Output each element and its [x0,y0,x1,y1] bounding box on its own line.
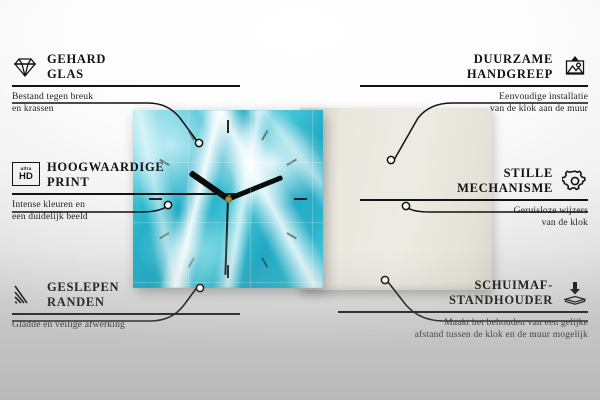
feature-geslepen-randen: GESLEPEN RANDEN Gladde en veilige afwerk… [12,280,240,331]
feature-duurzame-handgreep: DUURZAME HANDGREEP Eenvoudige installati… [360,52,588,115]
clock-tick [188,130,195,141]
feature-header: STILLE MECHANISME [360,166,588,196]
feature-title: SCHUIMAF- STANDHOUDER [449,278,553,308]
feature-divider [12,193,240,195]
feature-title: GESLEPEN RANDEN [47,280,119,310]
feature-header: GEHARD GLAS [12,52,240,82]
feature-header: ultra HD HOOGWAARDIGE PRINT [12,160,240,190]
press-down-pad-icon [562,280,588,306]
clock-tick [261,257,268,268]
feature-header: SCHUIMAF- STANDHOUDER [338,278,588,308]
feature-divider [360,85,588,87]
diamond-icon [12,54,38,80]
feature-hoogwaardige-print: ultra HD HOOGWAARDIGE PRINT Intense kleu… [12,160,240,223]
feature-subtitle: Maakt het behouden van een gelijke afsta… [338,317,588,341]
gear-icon [562,168,588,194]
clock-tick [286,232,297,239]
ultra-hd-icon-main-text: HD [19,172,33,182]
feature-subtitle: Geruisloze wijzers van de klok [360,205,588,229]
feature-header: GESLEPEN RANDEN [12,280,240,310]
clock-tick [188,257,195,268]
feature-divider [12,85,240,87]
feature-subtitle: Gladde en veilige afwerking [12,319,240,331]
feature-divider [12,313,240,315]
feature-title: DUURZAME HANDGREEP [467,52,553,82]
feature-header: DUURZAME HANDGREEP [360,52,588,82]
feature-divider [338,311,588,313]
feature-subtitle: Eenvoudige installatie van de klok aan d… [360,91,588,115]
clock-tick [227,265,229,278]
clock-tick [286,159,297,166]
clock-tick [227,120,229,133]
feature-subtitle: Intense kleuren en een duidelijk beeld [12,199,240,223]
product-infographic: GEHARD GLAS Bestand tegen breuk en krass… [0,0,600,400]
clock-tick [294,198,307,200]
feature-title: GEHARD GLAS [47,52,106,82]
feature-stille-mechanisme: STILLE MECHANISME Geruisloze wijzers van… [360,166,588,229]
feature-subtitle: Bestand tegen breuk en krassen [12,91,240,115]
feature-divider [360,199,588,201]
clock-tick [159,232,170,239]
clock-tick [261,130,268,141]
hanging-picture-icon [562,54,588,80]
feature-title: STILLE MECHANISME [457,166,553,196]
diagonal-lines-icon [12,282,38,308]
feature-schuimafstandhouder: SCHUIMAF- STANDHOUDER Maakt het behouden… [338,278,588,341]
feature-title: HOOGWAARDIGE PRINT [47,160,164,190]
feature-gehard-glas: GEHARD GLAS Bestand tegen breuk en krass… [12,52,240,115]
ultra-hd-icon: ultra HD [12,162,38,188]
